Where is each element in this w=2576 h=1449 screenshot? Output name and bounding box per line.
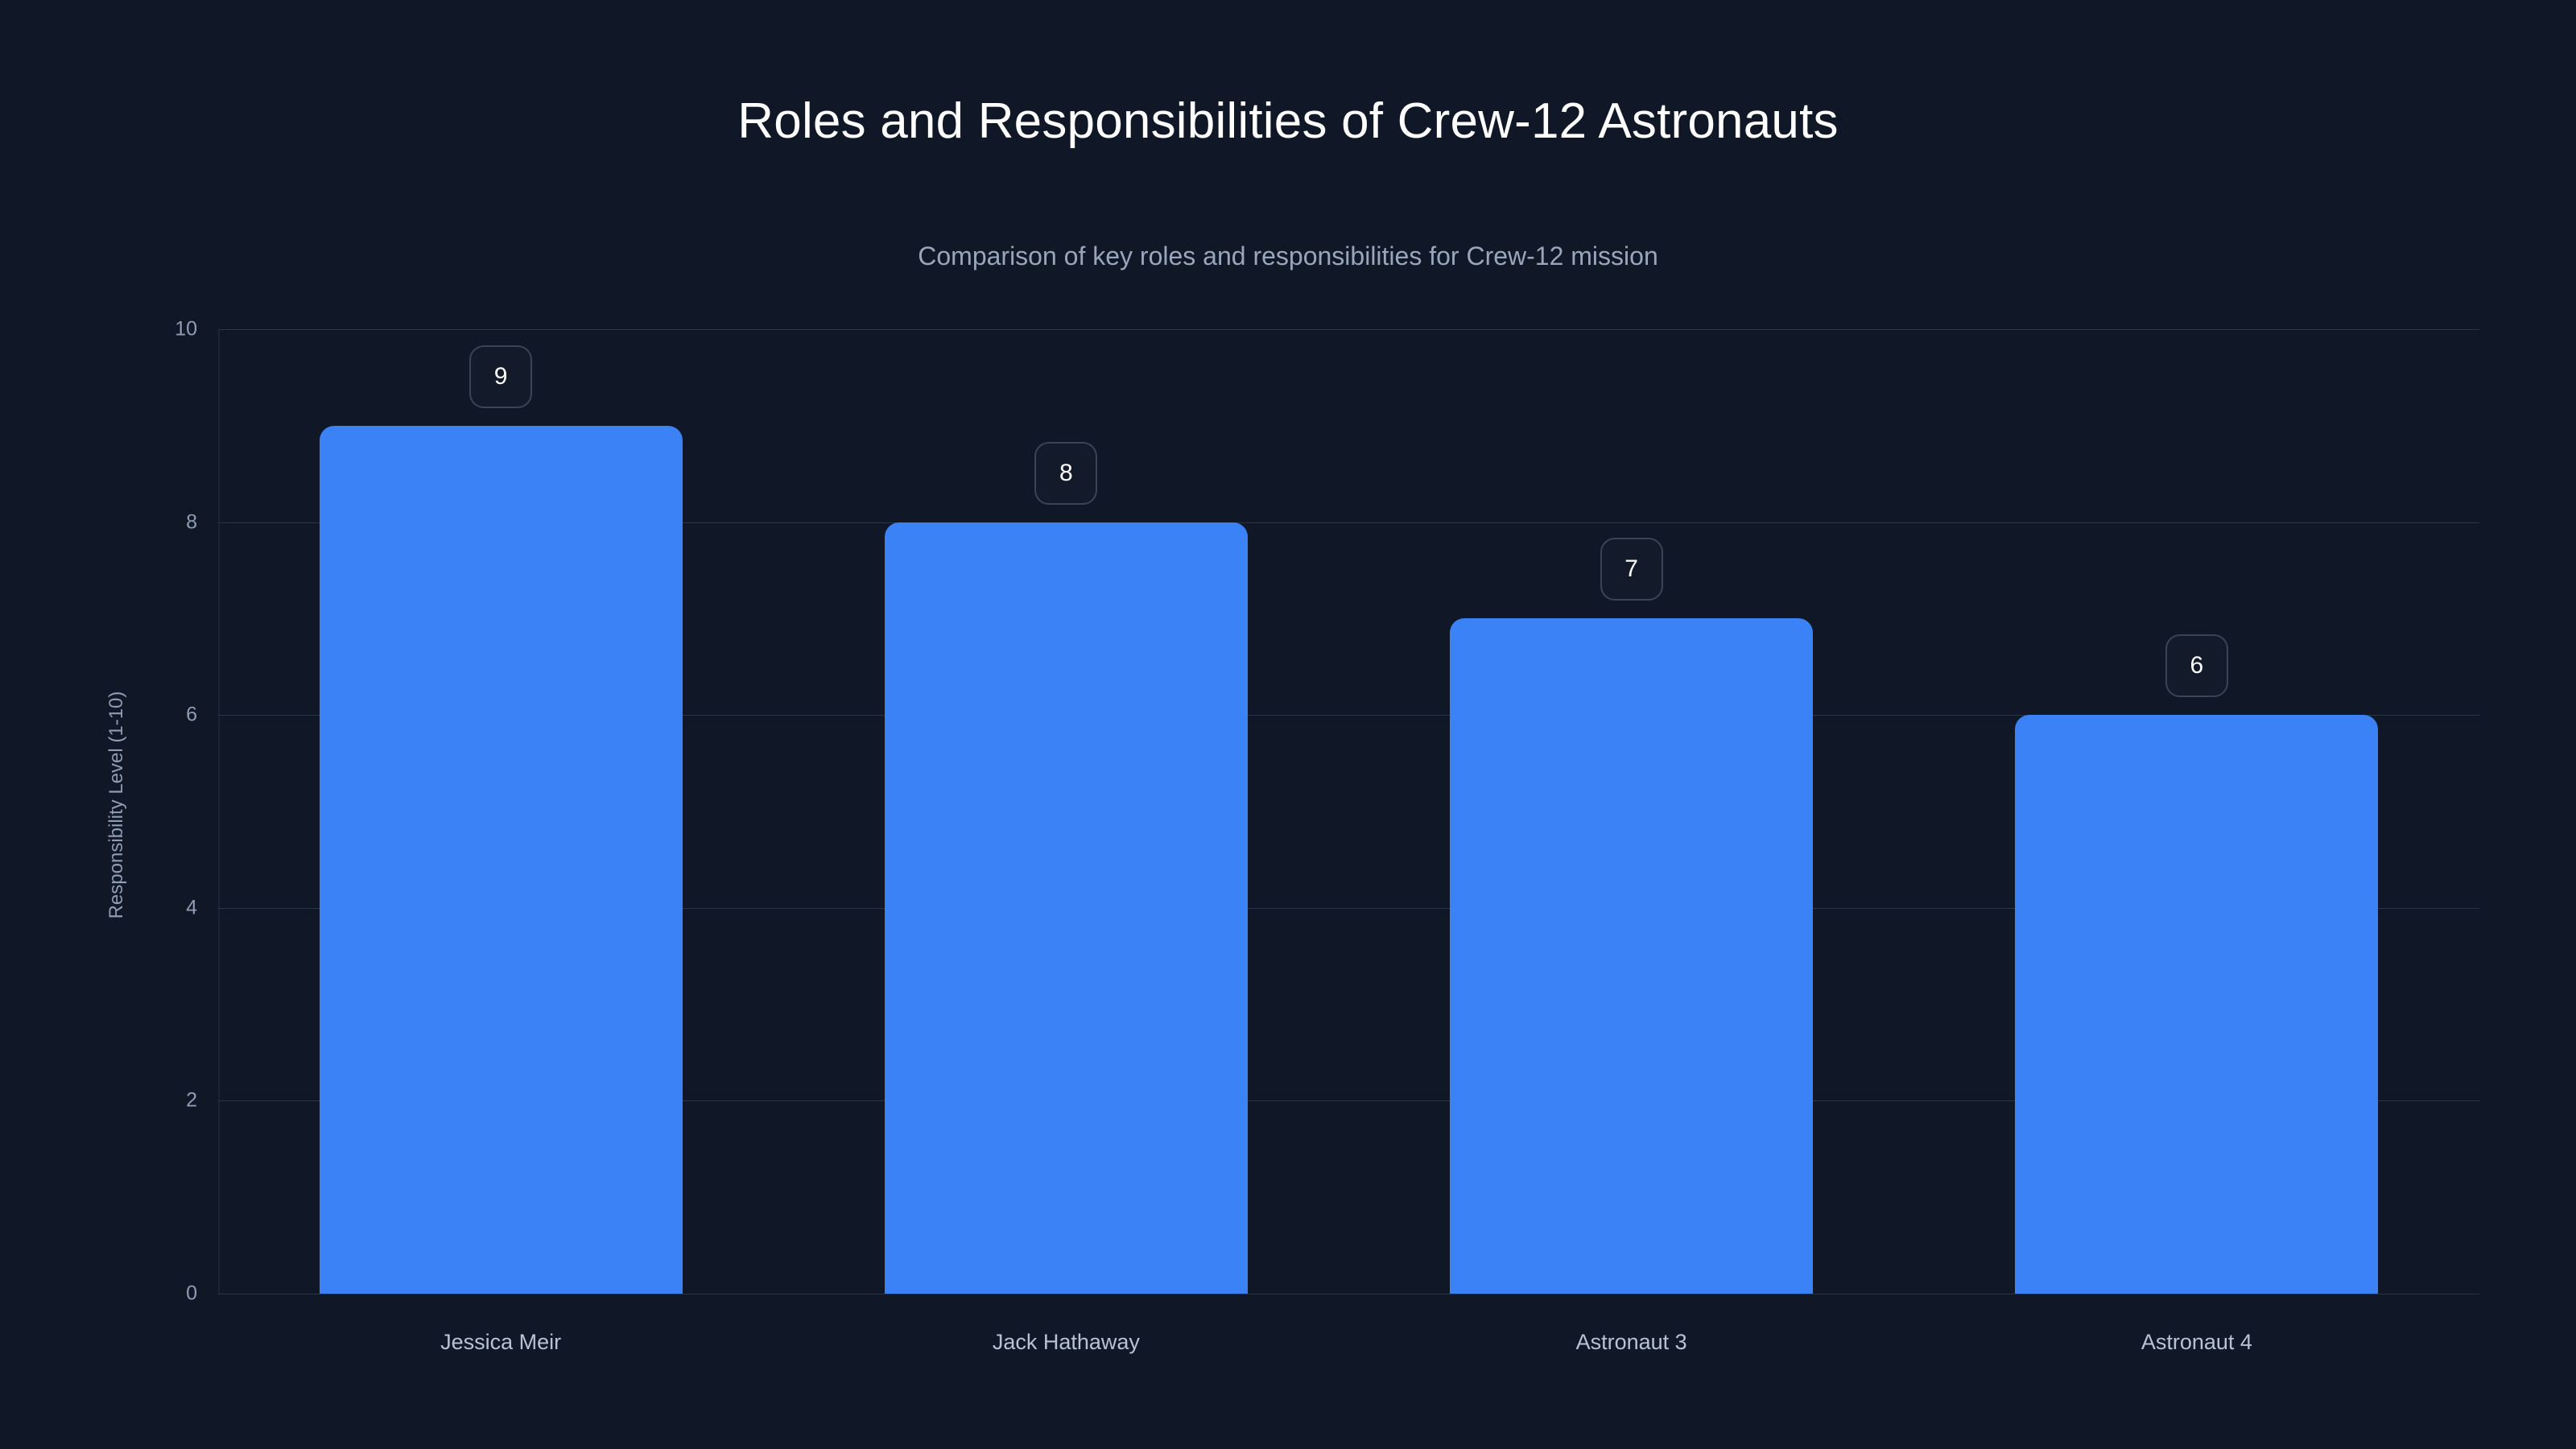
- bar-value-label: 9: [469, 345, 532, 408]
- chart-title: Roles and Responsibilities of Crew-12 As…: [0, 93, 2576, 150]
- bar-value-label: 8: [1034, 442, 1097, 505]
- y-axis-line: [218, 329, 220, 1294]
- y-axis-tick-label: 6: [117, 704, 197, 727]
- gridline: [218, 329, 2479, 330]
- y-axis-tick-label: 10: [117, 318, 197, 341]
- gridline: [218, 1294, 2479, 1294]
- x-axis-category-label: Astronaut 4: [2141, 1330, 2252, 1355]
- bar[interactable]: [2015, 715, 2378, 1294]
- x-axis-category-label: Jack Hathaway: [993, 1330, 1140, 1355]
- y-axis-tick-label: 0: [117, 1282, 197, 1306]
- x-axis-category-label: Jessica Meir: [440, 1330, 561, 1355]
- bar[interactable]: [320, 426, 683, 1294]
- y-axis-tick-label: 2: [117, 1089, 197, 1113]
- y-axis-tick-label: 4: [117, 896, 197, 919]
- plot-area: [218, 329, 2479, 1294]
- y-axis-tick-label: 8: [117, 510, 197, 534]
- chart-canvas: Roles and Responsibilities of Crew-12 As…: [0, 0, 2576, 1449]
- x-axis-category-label: Astronaut 3: [1576, 1330, 1687, 1355]
- bar-value-label: 7: [1600, 538, 1663, 601]
- bar[interactable]: [885, 522, 1248, 1294]
- chart-subtitle: Comparison of key roles and responsibili…: [0, 242, 2576, 271]
- bar-value-label: 6: [2165, 634, 2228, 697]
- y-axis-title: Responsibility Level (1-10): [0, 0, 1, 1]
- bar[interactable]: [1450, 618, 1813, 1294]
